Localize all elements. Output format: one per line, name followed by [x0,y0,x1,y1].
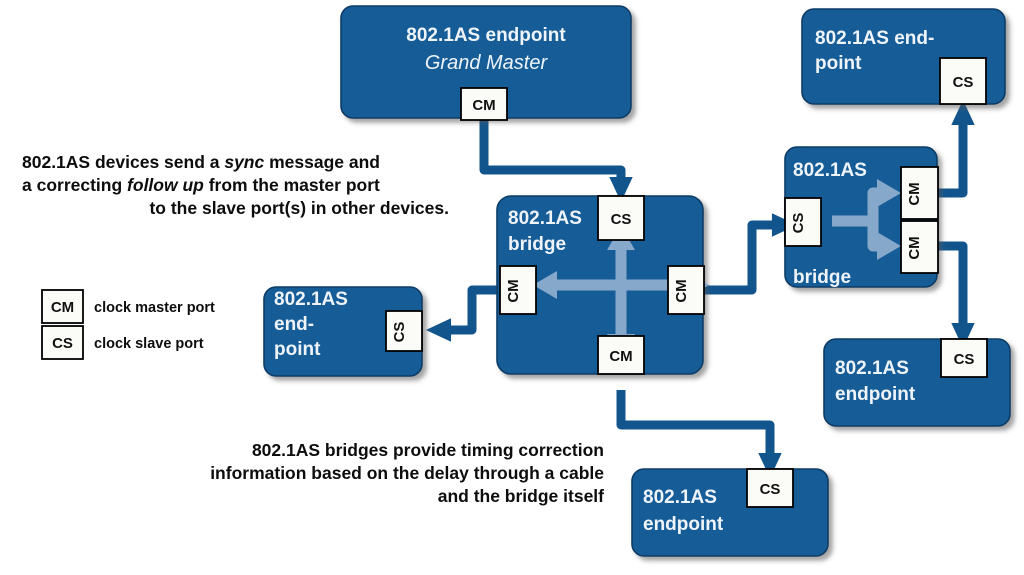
right-bridge-subtitle: bridge [793,267,851,288]
port-cm-right-bridge-bottom-label: CM [906,236,923,259]
port-cs-right-bridge-left-label: CS [790,213,807,234]
caption-bottom-line2: information based on the delay through a… [210,463,604,483]
endpoint-left-line3: point [274,339,321,360]
network-diagram: 802.1AS endpoint Grand Master CM 802.1AS… [0,0,1024,575]
legend-item-cs: CS clock slave port [42,326,204,359]
legend-swatch-cs-label: CS [52,335,73,352]
port-cs-endpoint-left-label: CS [391,322,408,343]
endpoint-bottom-line2: endpoint [643,514,724,535]
link-right-bridge-to-top-right-endpoint [938,112,963,193]
link-center-bridge-to-left-endpoint [438,290,497,330]
legend: CM clock master port CS clock slave port [42,290,215,359]
caption-top-line2: a correcting follow up from the master p… [22,175,380,195]
node-endpoint-bottom[interactable]: 802.1AS endpoint CS [632,469,828,556]
legend-swatch-cm-label: CM [51,299,74,316]
center-bridge-subtitle: bridge [508,234,566,255]
caption-top-line1: 802.1AS devices send a sync message and [22,152,380,172]
endpoint-right-line1: 802.1AS [835,358,909,379]
node-center-bridge[interactable]: 802.1AS bridge CS CM CM CM [497,196,709,374]
caption-bottom: 802.1AS bridges provide timing correctio… [210,440,604,506]
port-cm-right-bridge-top-label: CM [906,182,923,205]
grand-master-subtitle: Grand Master [425,52,549,74]
port-cm-center-bridge-bottom-label: CM [609,348,632,365]
port-cm-grand-master-label: CM [472,97,495,114]
center-bridge-title: 802.1AS [508,208,582,229]
grand-master-title: 802.1AS endpoint [406,25,566,46]
link-gm-to-center-bridge [484,118,621,190]
port-cm-center-bridge-right-label: CM [673,279,690,302]
endpoint-bottom-box[interactable] [632,469,828,556]
node-endpoint-left[interactable]: 802.1AS end- point CS [264,287,422,376]
port-cs-endpoint-top-right-label: CS [953,74,974,91]
caption-top: 802.1AS devices send a sync message and … [22,152,449,218]
node-grand-master[interactable]: 802.1AS endpoint Grand Master CM [341,6,631,120]
diagram-canvas: 802.1AS endpoint Grand Master CM 802.1AS… [0,0,1024,575]
caption-top-line3: to the slave port(s) in other devices. [149,198,449,218]
link-center-bridge-to-bottom-endpoint [621,390,770,466]
legend-description-cs: clock slave port [94,336,204,352]
port-cm-center-bridge-left-label: CM [505,279,522,302]
endpoint-top-right-line2: point [815,53,862,74]
link-right-bridge-to-right-endpoint [938,246,963,336]
endpoint-top-right-line1: 802.1AS end- [815,28,934,49]
port-cs-endpoint-bottom-label: CS [760,481,781,498]
endpoint-left-line1: 802.1AS [274,289,348,310]
legend-item-cm: CM clock master port [42,290,215,323]
node-endpoint-right[interactable]: 802.1AS endpoint CS [824,339,1010,426]
node-right-bridge[interactable]: 802.1AS bridge CS CM CM [785,147,938,288]
caption-bottom-line3: and the bridge itself [438,486,604,506]
port-cs-endpoint-right-label: CS [954,351,975,368]
endpoint-right-line2: endpoint [835,384,916,405]
right-bridge-title: 802.1AS [793,160,867,181]
endpoint-left-line2: end- [274,314,314,335]
port-cs-center-bridge-top-label: CS [611,211,632,228]
endpoint-bottom-line1: 802.1AS [643,487,717,508]
legend-description-cm: clock master port [94,300,215,316]
node-endpoint-top-right[interactable]: 802.1AS end- point CS [802,9,1005,104]
link-center-bridge-to-right-bridge [703,225,785,290]
caption-bottom-line1: 802.1AS bridges provide timing correctio… [252,440,604,460]
